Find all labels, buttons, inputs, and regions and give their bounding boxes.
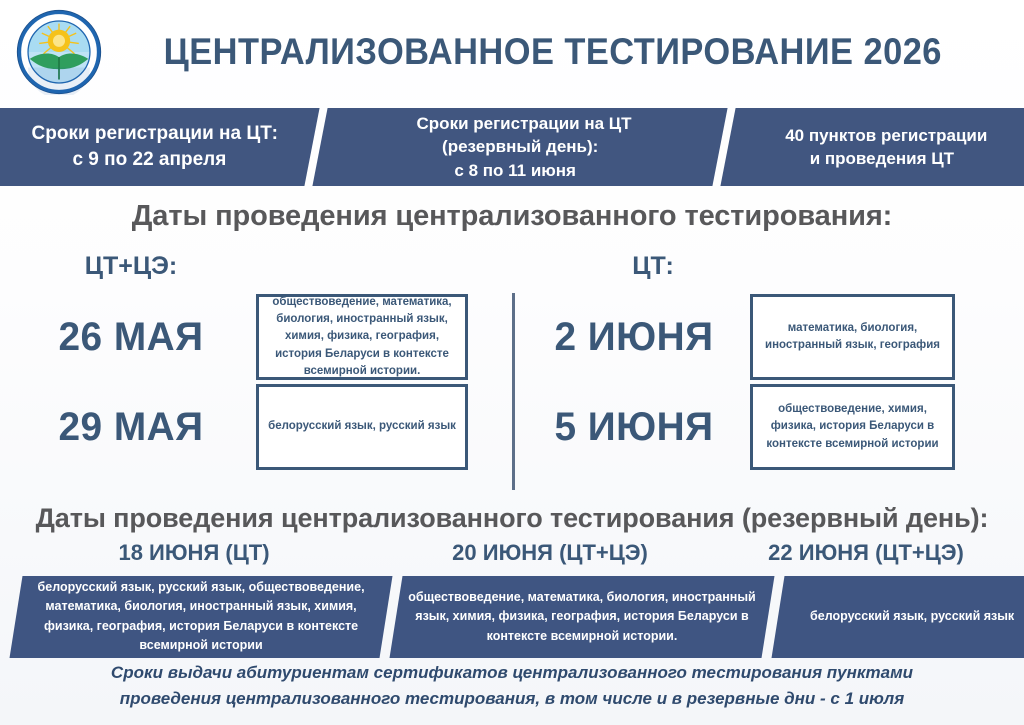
reserve-section-heading: Даты проведения централизованного тестир… — [0, 503, 1024, 534]
footer-line-2: проведения централизованного тестировани… — [0, 686, 1024, 712]
reserve-date-22-june: 22 ИЮНЯ (ЦТ+ЦЭ) — [708, 540, 1024, 574]
banner-seg1-line2: с 9 по 22 апреля — [73, 147, 227, 173]
column-divider — [512, 293, 515, 490]
date-row: 2 ИЮНЯ математика, биология, иностранный… — [518, 292, 1018, 382]
reserve-card-20-june: обществоведение, математика, биология, и… — [390, 576, 775, 658]
subjects-box-5-june: обществоведение, химия, физика, история … — [750, 384, 955, 470]
reserve-dates-area: 18 ИЮНЯ (ЦТ) 20 ИЮНЯ (ЦТ+ЦЭ) 22 ИЮНЯ (ЦТ… — [0, 540, 1024, 660]
column-label-ct: ЦТ: — [518, 248, 1018, 292]
subjects-box-26-may: обществоведение, математика, биология, и… — [256, 294, 468, 380]
subjects-box-2-june: математика, биология, иностранный язык, … — [750, 294, 955, 380]
reserve-card-22-june: белорусский язык, русский язык — [772, 576, 1024, 658]
poster-header: ЦЕНТРАЛИЗОВАННОЕ ТЕСТИРОВАНИЕ 2026 — [0, 0, 1024, 104]
date-5-june: 5 ИЮНЯ — [521, 405, 746, 450]
poster-title: ЦЕНТРАЛИЗОВАННОЕ ТЕСТИРОВАНИЕ 2026 — [134, 31, 991, 73]
column-ct: ЦТ: 2 ИЮНЯ математика, биология, иностра… — [518, 248, 1018, 496]
date-row: 5 ИЮНЯ обществоведение, химия, физика, и… — [518, 382, 1018, 472]
main-section-heading: Даты проведения централизованного тестир… — [0, 200, 1024, 233]
date-row: 26 МАЯ обществоведение, математика, биол… — [6, 292, 506, 382]
certificate-issue-note: Сроки выдачи абитуриентам сертификатов ц… — [0, 660, 1024, 713]
banner-segment-reserve-registration: Сроки регистрации на ЦТ (резервный день)… — [312, 108, 727, 186]
ministry-emblem-icon — [16, 9, 102, 95]
reserve-date-20-june: 20 ИЮНЯ (ЦТ+ЦЭ) — [380, 540, 720, 574]
banner-segment-centers-count: 40 пунктов регистрации и проведения ЦТ — [720, 108, 1024, 186]
subjects-box-29-may: белорусский язык, русский язык — [256, 384, 468, 470]
reserve-subjects-20-june: обществоведение, математика, биология, и… — [396, 588, 768, 646]
banner-seg3-line1: 40 пунктов регистрации — [785, 124, 987, 147]
date-2-june: 2 ИЮНЯ — [521, 315, 746, 360]
infographic-poster: ЦЕНТРАЛИЗОВАННОЕ ТЕСТИРОВАНИЕ 2026 Сроки… — [0, 0, 1024, 725]
column-ct-plus-ce: ЦТ+ЦЭ: 26 МАЯ обществоведение, математик… — [6, 248, 506, 496]
reserve-subjects-18-june: белорусский язык, русский язык, общество… — [16, 578, 386, 656]
date-row: 29 МАЯ белорусский язык, русский язык — [6, 382, 506, 472]
banner-seg1-line1: Сроки регистрации на ЦТ: — [31, 121, 277, 147]
column-label-ct-plus-ce: ЦТ+ЦЭ: — [6, 248, 506, 292]
footer-line-1: Сроки выдачи абитуриентам сертификатов ц… — [0, 660, 1024, 686]
banner-seg2-line2: (резервный день): — [442, 135, 598, 158]
registration-banner: Сроки регистрации на ЦТ: с 9 по 22 апрел… — [0, 108, 1024, 186]
reserve-subjects-22-june: белорусский язык, русский язык — [800, 607, 1024, 626]
banner-seg3-line2: и проведения ЦТ — [810, 147, 954, 170]
reserve-card-18-june: белорусский язык, русский язык, общество… — [10, 576, 393, 658]
banner-seg2-line1: Сроки регистрации на ЦТ — [417, 112, 632, 135]
date-26-may: 26 МАЯ — [10, 315, 253, 360]
date-29-may: 29 МАЯ — [10, 405, 253, 450]
banner-segment-registration-dates: Сроки регистрации на ЦТ: с 9 по 22 апрел… — [0, 108, 320, 186]
reserve-date-18-june: 18 ИЮНЯ (ЦТ) — [24, 540, 364, 574]
banner-seg2-line3: с 8 по 11 июня — [455, 159, 577, 182]
